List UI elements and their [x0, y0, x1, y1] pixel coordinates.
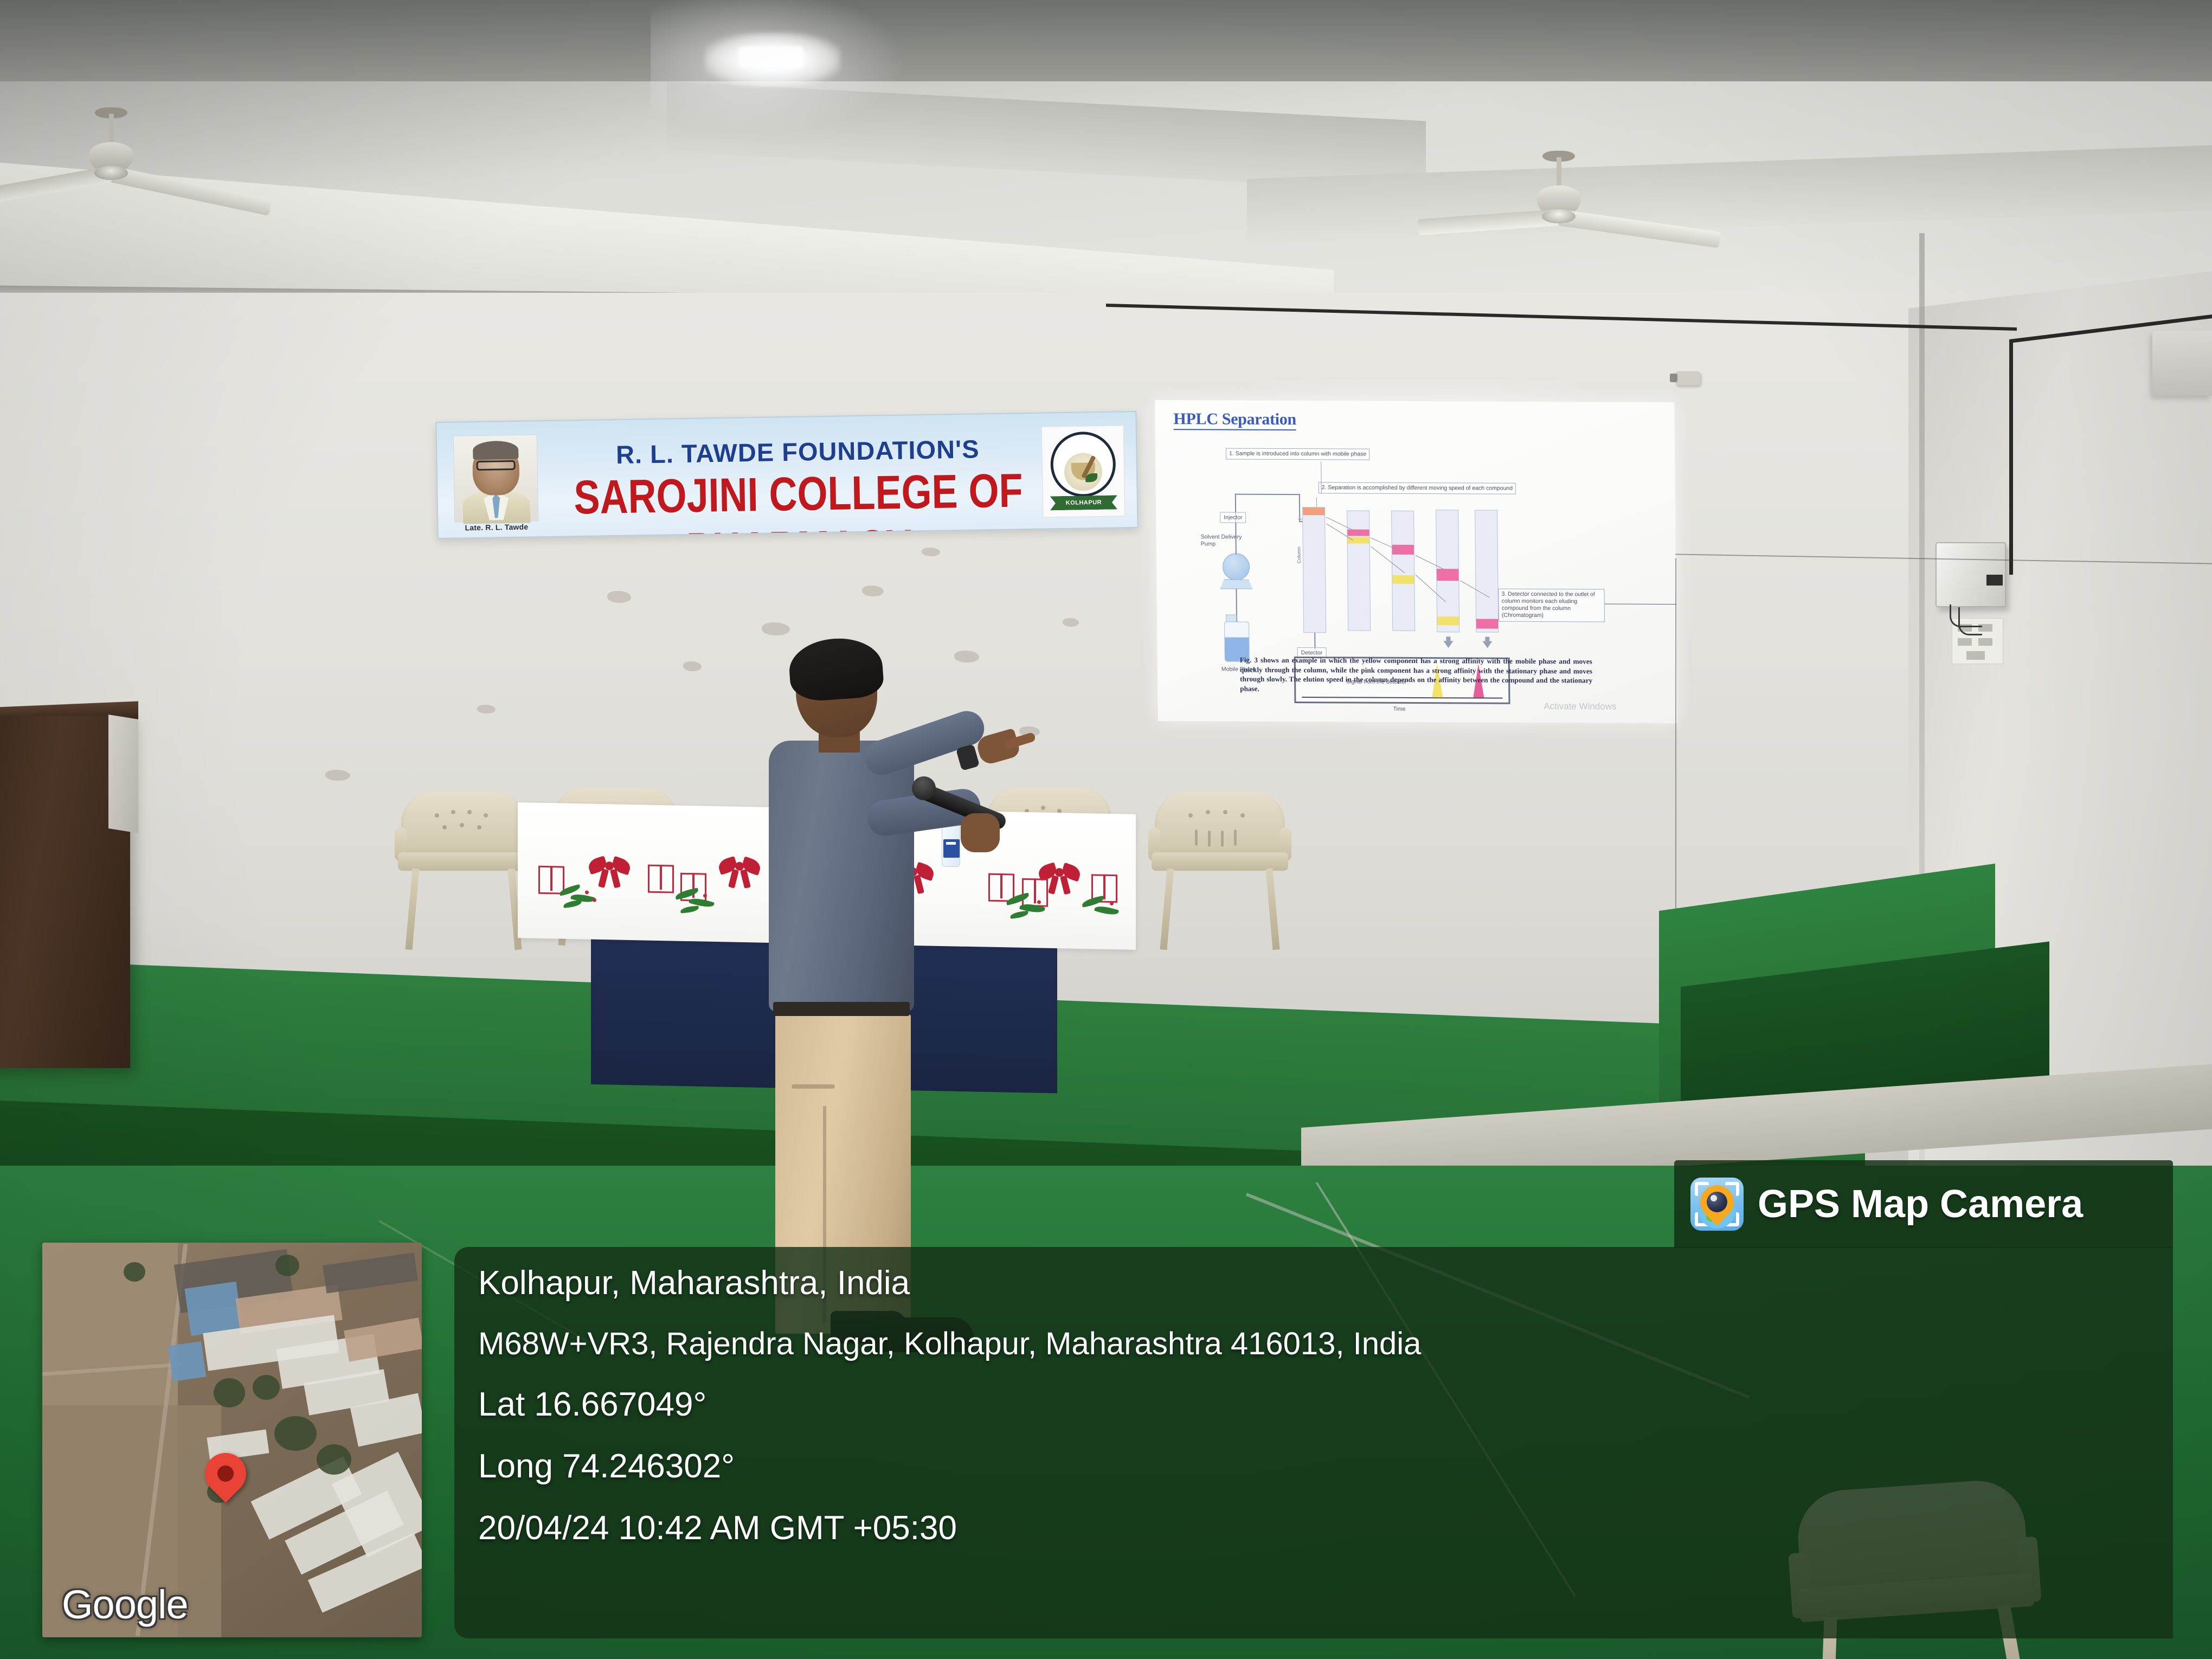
gps-place: Kolhapur, Maharashtra, India — [478, 1266, 2151, 1300]
foliage-icon — [559, 879, 608, 912]
presenter-shirt — [769, 741, 914, 1012]
pink-band — [1392, 545, 1414, 555]
electrical-wire — [1958, 607, 1982, 635]
map-building — [168, 1341, 207, 1381]
elution-arrow-stem — [1446, 636, 1450, 641]
callout-connector — [1321, 461, 1322, 493]
callout-connector — [1605, 604, 1677, 605]
trouser-pocket — [792, 1084, 835, 1089]
gps-latitude: Lat 16.667049° — [478, 1388, 2151, 1422]
wall-speaker-box — [2152, 331, 2212, 396]
sample-band — [1303, 507, 1324, 515]
fan-rod — [109, 114, 114, 145]
wall-scuff — [762, 622, 790, 635]
gps-brand-label: GPS Map Camera — [1758, 1185, 2083, 1224]
college-seal: KOLHAPUR — [1041, 425, 1126, 517]
slide-caption: Fig. 3 shows an example in which the yel… — [1240, 655, 1593, 695]
wall-scuff — [1063, 618, 1079, 627]
chair-back — [1155, 792, 1285, 856]
column-5 — [1475, 510, 1499, 632]
slide-callout-3: 3. Detector connected to the outlet of c… — [1498, 589, 1605, 622]
seal-ring — [1050, 431, 1116, 497]
seal-ribbon-label: KOLHAPUR — [1050, 495, 1117, 510]
portrait-hair — [472, 441, 518, 460]
projected-slide: HPLC Separation 1. Sample is introduced … — [1155, 400, 1677, 723]
fan-hub — [94, 166, 128, 180]
yellow-band — [1392, 575, 1414, 584]
map-tree — [253, 1375, 280, 1400]
presenter-belt — [773, 1002, 910, 1016]
electrical-box — [1935, 542, 2006, 607]
podium-side-ledge — [108, 715, 138, 833]
label-injector: Injector — [1220, 512, 1246, 523]
screen-edge-line-vert — [1675, 558, 1676, 927]
presenter-mic-hand — [961, 813, 1000, 852]
map-tree — [317, 1444, 351, 1475]
foliage-icon — [1082, 891, 1130, 925]
wall-scuff — [477, 705, 496, 713]
tube-light-core — [738, 47, 803, 67]
pink-band — [1476, 619, 1498, 628]
gps-longitude: Long 74.246302° — [478, 1450, 2151, 1483]
conduit-vertical — [2009, 342, 2013, 575]
label-column: Column — [1296, 546, 1302, 563]
map-tree — [274, 1416, 317, 1451]
pipe-to-column — [1299, 494, 1300, 522]
foliage-icon — [1006, 888, 1054, 921]
map-tree — [214, 1378, 245, 1407]
slide-callout-1: 1. Sample is introduced into column with… — [1226, 448, 1370, 460]
wristwatch-icon — [956, 744, 980, 771]
ribbon-bow-icon — [718, 855, 761, 886]
wall-scuff — [325, 770, 350, 781]
gps-brand-bar: GPS Map Camera — [1674, 1160, 2173, 1248]
elution-arrow — [1482, 641, 1492, 648]
founder-portrait — [453, 434, 538, 522]
pump-icon — [1223, 553, 1250, 580]
ceiling-shadow-band — [0, 0, 2212, 81]
wall-scuff — [922, 548, 940, 556]
wall-scuff — [862, 586, 884, 596]
pump-base — [1220, 579, 1252, 589]
chair-seat — [398, 852, 529, 871]
gps-info-panel: Kolhapur, Maharashtra, India M68W+VR3, R… — [454, 1247, 2173, 1638]
chair-back — [401, 792, 526, 856]
label-time-axis: Time — [1393, 706, 1406, 712]
wall-scuff — [683, 661, 702, 671]
fan-rod — [1557, 157, 1561, 189]
yellow-band — [1437, 616, 1459, 625]
google-watermark: Google — [62, 1581, 188, 1628]
ceiling-fan-right — [1534, 157, 1583, 228]
column-4 — [1436, 510, 1459, 632]
wall-camera-icon — [1675, 371, 1700, 385]
yellow-band — [1348, 537, 1369, 543]
gps-timestamp: 20/04/24 10:42 AM GMT +05:30 — [478, 1512, 2151, 1545]
activate-windows-watermark: Activate Windows — [1544, 701, 1616, 712]
gps-camera-pin-icon — [1690, 1178, 1744, 1231]
camera-lens-icon — [1707, 1192, 1727, 1212]
map-building — [184, 1282, 242, 1336]
glasses-icon — [476, 460, 515, 471]
banner-college-name: SAROJINI COLLEGE OF PHARMACY — [554, 464, 1044, 539]
bottle-cap — [1226, 614, 1237, 622]
map-tree — [124, 1262, 145, 1282]
pink-band — [1347, 529, 1369, 536]
foliage-icon — [675, 884, 724, 917]
gift-box-icon — [648, 865, 674, 893]
ceiling-fan-left — [87, 114, 136, 184]
fan-hub — [1542, 209, 1576, 223]
presenter-hair — [787, 635, 884, 703]
portrait-caption: Late. R. L. Tawde — [454, 522, 538, 532]
college-banner: Late. R. L. Tawde R. L. TAWDE FOUNDATION… — [435, 411, 1138, 539]
pink-band — [1437, 569, 1458, 581]
pipe-vertical — [1235, 494, 1237, 555]
pipe-to-injector — [1235, 494, 1300, 496]
screenshot-root: Late. R. L. Tawde R. L. TAWDE FOUNDATION… — [0, 0, 2212, 1659]
column-1 — [1302, 507, 1326, 633]
elution-arrow-stem — [1485, 637, 1489, 641]
map-thumbnail[interactable]: Google — [42, 1243, 422, 1637]
wall-scuff — [607, 591, 631, 603]
label-solvent-pump: Solvent Delivery Pump — [1200, 533, 1255, 548]
chair-seat — [1152, 852, 1288, 871]
elution-arrow — [1443, 641, 1453, 648]
map-tree — [275, 1255, 299, 1276]
slide-callout-2: 2. Separation is accomplished by differe… — [1319, 482, 1516, 494]
gps-address: M68W+VR3, Rajendra Nagar, Kolhapur, Maha… — [478, 1328, 2151, 1360]
slide-title: HPLC Separation — [1173, 410, 1296, 430]
